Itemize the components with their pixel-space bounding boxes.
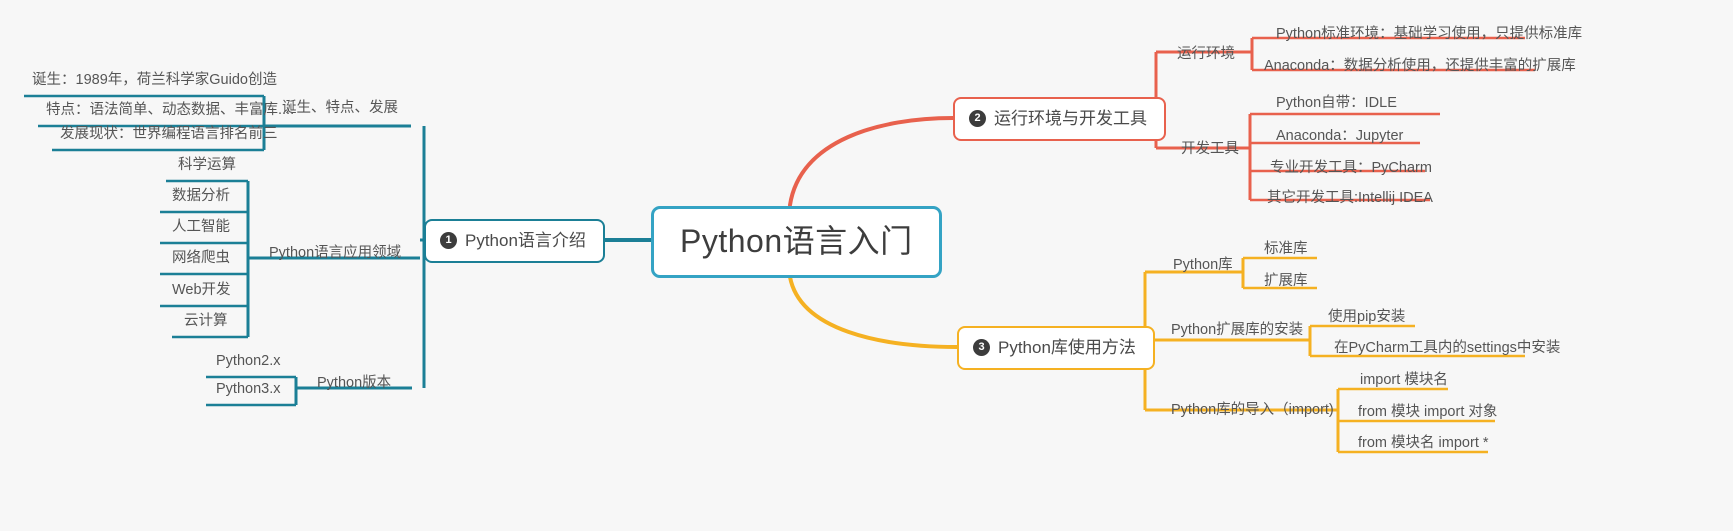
root-node[interactable]: Python语言入门 xyxy=(651,206,942,278)
root-title: Python语言入门 xyxy=(680,223,913,259)
group-label-application-areas[interactable]: Python语言应用领域 xyxy=(264,243,406,264)
leaf-intellij-idea[interactable]: 其它开发工具:Intellij IDEA xyxy=(1261,187,1439,211)
leaf-python-standard-env[interactable]: Python标准环境：基础学习使用，只提供标准库 xyxy=(1270,23,1588,47)
group-label-library-import[interactable]: Python库的导入（import) xyxy=(1166,400,1339,421)
leaf-python3x[interactable]: Python3.x xyxy=(210,378,287,402)
branch-badge-3: 3 xyxy=(973,339,990,356)
leaf-pycharm-settings-install[interactable]: 在PyCharm工具内的settings中安装 xyxy=(1328,337,1566,361)
branch-badge-2: 2 xyxy=(969,110,986,127)
leaf-web-development[interactable]: Web开发 xyxy=(166,279,237,303)
leaf-birth[interactable]: 诞生：1989年，荷兰科学家Guido创造 xyxy=(26,69,283,93)
link-root-to-branch3 xyxy=(790,277,957,347)
leaf-pip-install[interactable]: 使用pip安装 xyxy=(1322,306,1411,330)
leaf-scientific-computing[interactable]: 科学运算 xyxy=(172,154,242,178)
leaf-jupyter[interactable]: Anaconda：Jupyter xyxy=(1270,125,1409,149)
leaf-anaconda-env[interactable]: Anaconda：数据分析使用，还提供丰富的扩展库 xyxy=(1258,55,1582,79)
leaf-extension-library[interactable]: 扩展库 xyxy=(1258,270,1314,294)
branch-label-2: 运行环境与开发工具 xyxy=(994,110,1147,127)
group-label-extension-install[interactable]: Python扩展库的安装 xyxy=(1166,320,1308,341)
leaf-features[interactable]: 特点：语法简单、动态数据、丰富库.... xyxy=(40,99,300,123)
branch-node-python-intro[interactable]: 1 Python语言介绍 xyxy=(424,219,605,263)
leaf-data-analysis[interactable]: 数据分析 xyxy=(166,185,236,209)
leaf-web-crawler[interactable]: 网络爬虫 xyxy=(166,247,236,271)
branch-node-runtime-and-tools[interactable]: 2 运行环境与开发工具 xyxy=(953,97,1166,141)
leaf-from-module-import-object[interactable]: from 模块 import 对象 xyxy=(1352,401,1503,425)
leaf-artificial-intelligence[interactable]: 人工智能 xyxy=(166,216,236,240)
mindmap-canvas: Python语言入门 1 Python语言介绍 诞生、特点、发展 Python语… xyxy=(0,0,1733,531)
leaf-development-status[interactable]: 发展现状：世界编程语言排名前三 xyxy=(54,123,284,147)
group-label-python-version[interactable]: Python版本 xyxy=(312,373,396,394)
branch-badge-1: 1 xyxy=(440,232,457,249)
leaf-standard-library[interactable]: 标准库 xyxy=(1258,238,1314,262)
group-label-runtime-environment[interactable]: 运行环境 xyxy=(1172,44,1240,65)
leaf-from-module-import-all[interactable]: from 模块名 import * xyxy=(1352,432,1495,456)
leaf-pycharm[interactable]: 专业开发工具：PyCharm xyxy=(1264,157,1438,181)
leaf-import-module[interactable]: import 模块名 xyxy=(1354,369,1454,393)
branch-label-3: Python库使用方法 xyxy=(998,339,1136,356)
link-root-to-branch2 xyxy=(790,118,953,205)
leaf-cloud-computing[interactable]: 云计算 xyxy=(178,310,234,334)
leaf-python2x[interactable]: Python2.x xyxy=(210,350,287,374)
group-label-python-library[interactable]: Python库 xyxy=(1168,255,1238,276)
branch-node-library-usage[interactable]: 3 Python库使用方法 xyxy=(957,326,1155,370)
group-label-dev-tools[interactable]: 开发工具 xyxy=(1176,139,1244,160)
leaf-idle[interactable]: Python自带：IDLE xyxy=(1270,92,1403,116)
branch-label-1: Python语言介绍 xyxy=(465,232,586,249)
